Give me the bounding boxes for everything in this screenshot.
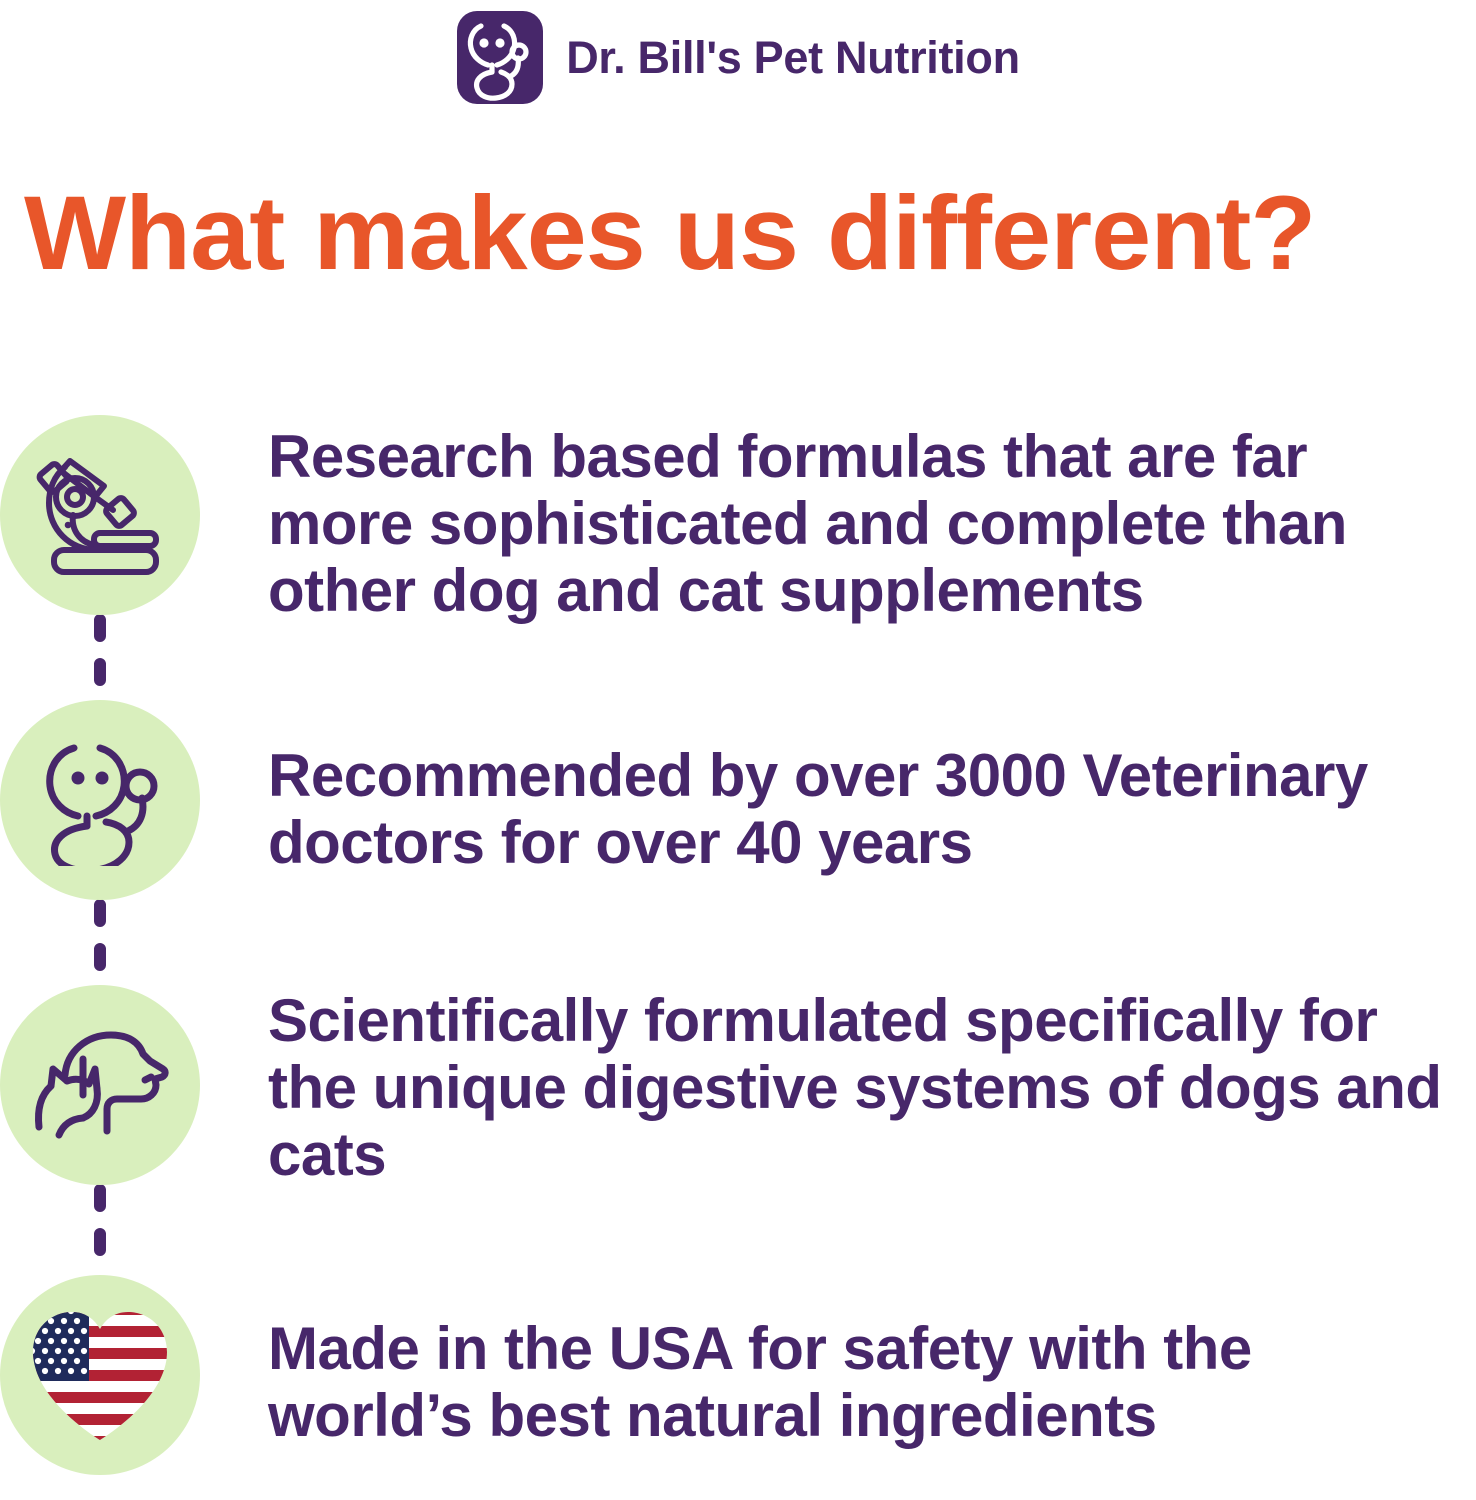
dog-and-cat-icon (25, 1019, 175, 1151)
list-item: Recommended by over 3000 Veterinary doct… (0, 700, 1476, 900)
benefit-text: Recommended by over 3000 Veterinary doct… (268, 700, 1453, 876)
stethoscope-icon (34, 734, 166, 866)
list-item: Research based formulas that are far mor… (0, 415, 1476, 624)
benefit-text: Research based formulas that are far mor… (268, 415, 1453, 624)
stethoscope-pet-face-icon (456, 10, 544, 105)
brand-header: Dr. Bill's Pet Nutrition (0, 0, 1476, 115)
benefit-text: Scientifically formulated specifically f… (268, 985, 1453, 1188)
benefit-text: Made in the USA for safety with the worl… (268, 1275, 1453, 1449)
benefit-icon-badge (0, 985, 200, 1185)
microscope-icon (34, 449, 166, 581)
usa-flag-heart-icon (25, 1304, 175, 1446)
benefit-icon-badge (0, 1275, 200, 1475)
list-item: Made in the USA for safety with the worl… (0, 1275, 1476, 1475)
page-title: What makes us different? (24, 178, 1476, 290)
benefits-list: Research based formulas that are far mor… (0, 415, 1476, 1500)
benefit-icon-badge (0, 415, 200, 615)
list-item: Scientifically formulated specifically f… (0, 985, 1476, 1188)
brand-name: Dr. Bill's Pet Nutrition (566, 32, 1020, 84)
benefit-icon-badge (0, 700, 200, 900)
